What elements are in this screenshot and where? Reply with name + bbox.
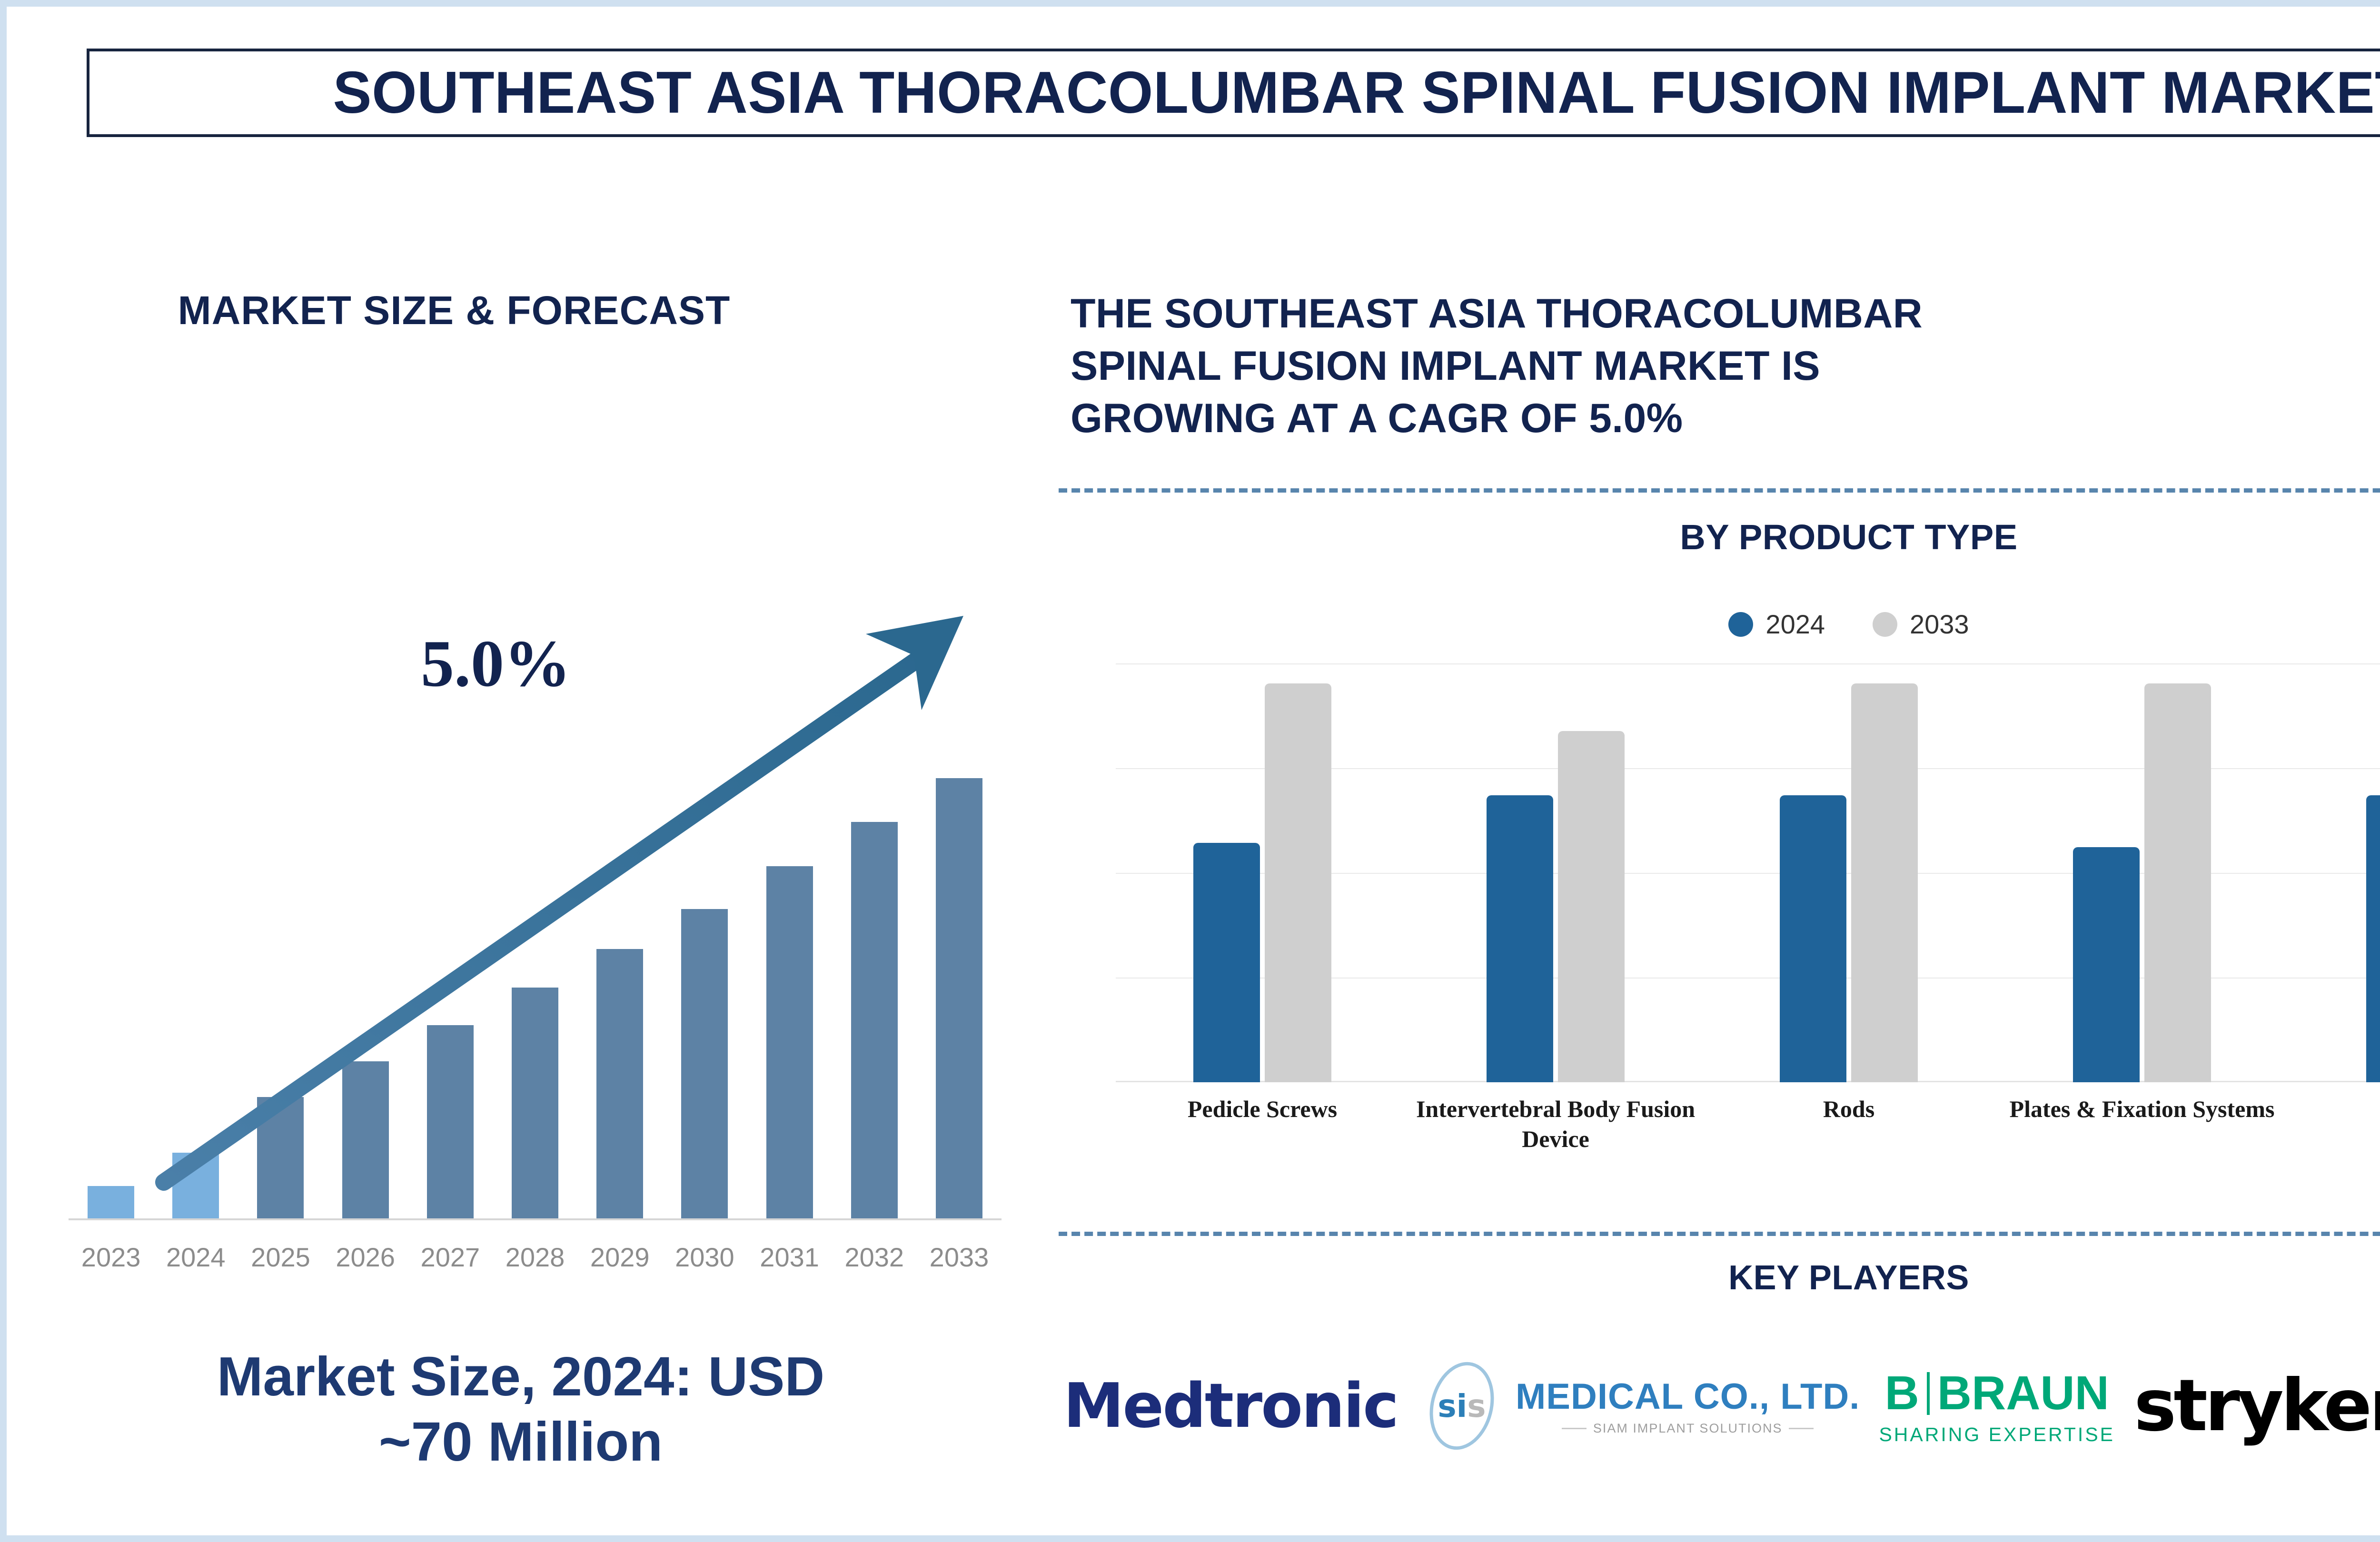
chart-legend: 20242033 <box>1059 609 2380 640</box>
cagr-headline: THE SOUTHEAST ASIA THORACOLUMBAR SPINAL … <box>1071 287 2380 445</box>
forecast-year-label: 2024 <box>153 1242 238 1273</box>
by-product-type-title: BY PRODUCT TYPE <box>1059 517 2380 557</box>
sis-company-name: MEDICAL CO., LTD. <box>1516 1376 1860 1417</box>
headline-line-3: GROWING AT A CAGR OF 5.0% <box>1071 392 2380 445</box>
legend-dot-icon <box>1728 612 1753 637</box>
key-players-logos: Medtronic sis MEDICAL CO., LTD. SIAM IMP… <box>1059 1334 2380 1477</box>
rule-right <box>1789 1428 1814 1429</box>
key-players-title: KEY PLAYERS <box>1059 1258 2380 1297</box>
forecast-year-label: 2026 <box>323 1242 408 1273</box>
forecast-year-labels: 2023202420252026202720282029203020312032… <box>69 1242 1002 1273</box>
forecast-bar <box>596 949 643 1218</box>
forecast-bar-slot <box>747 476 832 1218</box>
forecast-year-label: 2027 <box>408 1242 493 1273</box>
product-bar-group <box>2289 663 2380 1082</box>
braun-name: BRAUN <box>1937 1366 2109 1421</box>
forecast-bars <box>69 476 1002 1218</box>
product-bar-groups <box>1116 663 2380 1082</box>
cagr-annotation: 5.0% <box>421 625 571 702</box>
braun-tagline: SHARING EXPERTISE <box>1879 1423 2115 1446</box>
forecast-year-label: 2028 <box>493 1242 577 1273</box>
forecast-bar-slot <box>323 476 408 1218</box>
forecast-bar-slot <box>408 476 493 1218</box>
product-bar-2033 <box>1265 683 1331 1082</box>
product-category-label: Rods <box>1702 1094 1995 1154</box>
forecast-bar-slot <box>69 476 153 1218</box>
product-bar-2033 <box>2144 683 2211 1082</box>
forecast-bar <box>88 1186 134 1218</box>
sis-mark-icon: sis <box>1417 1361 1507 1451</box>
rule-left <box>1562 1428 1587 1429</box>
forecast-bar-slot <box>153 476 238 1218</box>
page-title: SOUTHEAST ASIA THORACOLUMBAR SPINAL FUSI… <box>333 59 2380 127</box>
product-bar-group <box>1995 663 2289 1082</box>
logo-stryker: stryker <box>2134 1364 2380 1447</box>
logo-medtronic: Medtronic <box>1063 1371 1398 1442</box>
logo-b-braun: B BRAUN SHARING EXPERTISE <box>1879 1366 2115 1446</box>
legend-item[interactable]: 2024 <box>1728 609 1825 640</box>
forecast-year-label: 2025 <box>238 1242 323 1273</box>
right-panel: THE SOUTHEAST ASIA THORACOLUMBAR SPINAL … <box>1059 149 2380 1520</box>
product-category-label: Intervertebral Body Fusion Device <box>1409 1094 1702 1154</box>
product-bar-group <box>1116 663 1409 1082</box>
product-category-label: Plates & Fixation Systems <box>1995 1094 2289 1154</box>
forecast-year-label: 2032 <box>832 1242 917 1273</box>
forecast-bar <box>172 1153 219 1218</box>
sis-text-block: MEDICAL CO., LTD. SIAM IMPLANT SOLUTIONS <box>1516 1376 1860 1436</box>
forecast-year-label: 2023 <box>69 1242 153 1273</box>
forecast-bar-slot <box>493 476 577 1218</box>
chart-axis-line <box>69 1218 1002 1220</box>
braun-b: B <box>1885 1366 1919 1421</box>
product-bar-2033 <box>1558 731 1625 1082</box>
page-title-box: SOUTHEAST ASIA THORACOLUMBAR SPINAL FUSI… <box>87 49 2380 137</box>
product-category-label: Pedicle Screws <box>1116 1094 1409 1154</box>
product-bar-2024 <box>2073 847 2140 1082</box>
forecast-bar <box>851 822 898 1218</box>
divider-top <box>1059 488 2380 493</box>
forecast-bar-slot <box>662 476 747 1218</box>
forecast-bar <box>681 909 728 1218</box>
sis-wordmark: sis <box>1438 1388 1486 1424</box>
forecast-year-label: 2031 <box>747 1242 832 1273</box>
product-bar-group <box>1409 663 1702 1082</box>
headline-line-1: THE SOUTHEAST ASIA THORACOLUMBAR <box>1071 287 2380 340</box>
braun-wordmark: B BRAUN <box>1885 1366 2109 1421</box>
forecast-bar-slot <box>917 476 1002 1218</box>
forecast-bar <box>936 778 982 1218</box>
forecast-year-label: 2030 <box>662 1242 747 1273</box>
product-bar-group <box>1702 663 1995 1082</box>
legend-label: 2024 <box>1765 609 1825 640</box>
headline-line-2: SPINAL FUSION IMPLANT MARKET IS <box>1071 340 2380 392</box>
product-category-labels: Pedicle ScrewsIntervertebral Body Fusion… <box>1116 1094 2380 1154</box>
forecast-year-label: 2029 <box>577 1242 662 1273</box>
forecast-bar <box>766 866 813 1218</box>
market-size-value: Market Size, 2024: USD ~70 Million <box>50 1344 992 1474</box>
divider-bottom <box>1059 1232 2380 1236</box>
sis-tagline: SIAM IMPLANT SOLUTIONS <box>1562 1421 1814 1436</box>
legend-dot-icon <box>1873 612 1897 637</box>
product-bar-2024 <box>1193 843 1260 1082</box>
market-size-line-1: Market Size, 2024: USD <box>50 1344 992 1409</box>
forecast-bar-slot <box>832 476 917 1218</box>
product-bar-2033 <box>1851 683 1918 1082</box>
product-bar-2024 <box>1487 795 1553 1082</box>
market-size-panel: MARKET SIZE & FORECAST 20232024202520262… <box>21 149 1011 1506</box>
legend-item[interactable]: 2033 <box>1873 609 1969 640</box>
product-category-label: Others <box>2289 1094 2380 1154</box>
infographic-page: SOUTHEAST ASIA THORACOLUMBAR SPINAL FUSI… <box>0 0 2380 1542</box>
product-bar-2024 <box>1780 795 1846 1082</box>
forecast-bar <box>427 1025 474 1218</box>
forecast-bar <box>512 988 558 1218</box>
braun-divider-bar <box>1927 1372 1930 1415</box>
product-bar-2024 <box>2366 795 2380 1082</box>
market-size-heading: MARKET SIZE & FORECAST <box>83 287 825 334</box>
forecast-bar-slot <box>238 476 323 1218</box>
legend-label: 2033 <box>1910 609 1969 640</box>
forecast-bar-slot <box>577 476 662 1218</box>
market-size-forecast-chart: 2023202420252026202720282029203020312032… <box>69 454 1002 1358</box>
logo-sis-medical: sis MEDICAL CO., LTD. SIAM IMPLANT SOLUT… <box>1417 1361 1860 1451</box>
sis-tagline-text: SIAM IMPLANT SOLUTIONS <box>1593 1421 1783 1436</box>
forecast-year-label: 2033 <box>917 1242 1002 1273</box>
market-size-line-2: ~70 Million <box>50 1409 992 1474</box>
forecast-bar <box>257 1097 304 1218</box>
forecast-bar <box>342 1061 389 1218</box>
product-type-chart <box>1116 663 2380 1082</box>
